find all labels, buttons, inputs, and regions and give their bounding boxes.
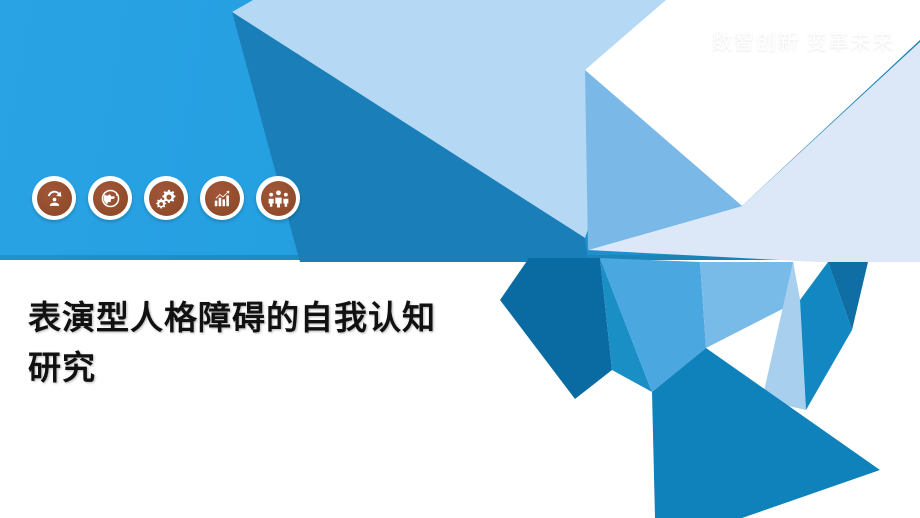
geometric-polygon-artwork xyxy=(0,0,920,518)
bottom-slab xyxy=(652,348,880,518)
presentation-slide: 数智创新 变革未来 xyxy=(0,0,920,518)
tagline-text: 数智创新 变革未来 xyxy=(711,26,894,56)
gears-icon xyxy=(149,181,184,216)
globe-icon xyxy=(93,181,128,216)
bar-chart-growth-icon xyxy=(205,181,240,216)
icon-badge-people-group[interactable] xyxy=(256,176,300,220)
title-line-2: 研究 xyxy=(28,343,548,393)
icon-badge-globe[interactable] xyxy=(88,176,132,220)
slide-title: 表演型人格障碍的自我认知 研究 xyxy=(28,293,548,393)
icon-badge-bar-chart-growth[interactable] xyxy=(200,176,244,220)
feature-icon-row xyxy=(32,176,300,220)
icon-badge-gears[interactable] xyxy=(144,176,188,220)
title-line-1: 表演型人格障碍的自我认知 xyxy=(28,293,548,343)
icon-badge-recycle-arrow[interactable] xyxy=(32,176,76,220)
people-group-icon xyxy=(261,181,296,216)
recycle-arrow-icon xyxy=(37,181,72,216)
